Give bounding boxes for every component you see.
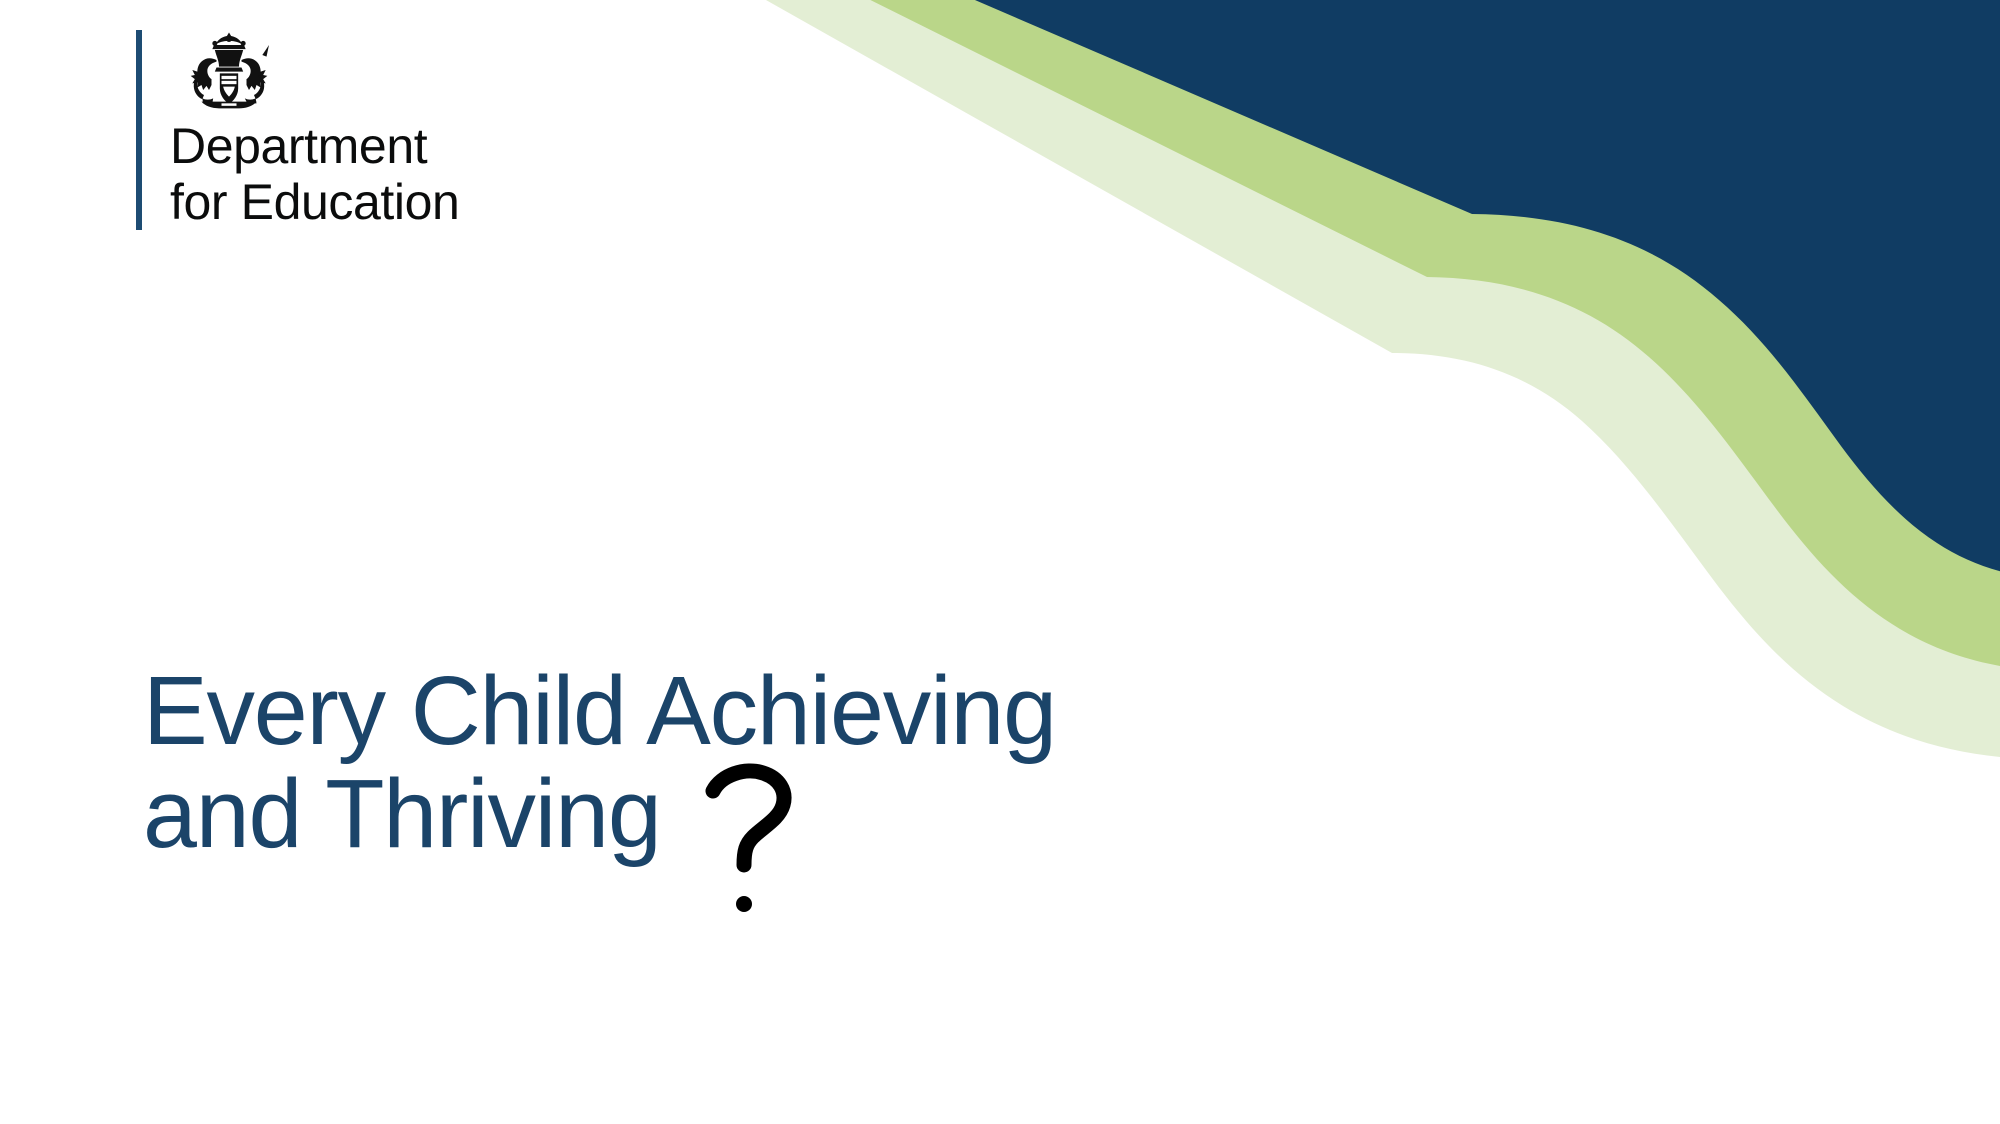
royal-coat-of-arms-icon	[170, 30, 288, 110]
logo-wordmark: Department for Education	[170, 118, 459, 230]
title-line-2: and Thriving	[143, 763, 661, 866]
title-line-1: Every Child Achieving	[143, 660, 1293, 763]
title-line-2-row: and Thriving	[143, 763, 1293, 923]
logo-line-1: Department	[170, 118, 459, 174]
hand-drawn-question-mark-icon	[701, 755, 813, 923]
inner-navy-band	[882, 0, 2000, 580]
logo-vertical-rule	[136, 30, 142, 230]
logo-body: Department for Education	[170, 30, 459, 230]
slide-canvas: Department for Education Every Child Ach…	[0, 0, 2000, 1124]
middle-green-band	[790, 0, 2000, 672]
slide-title-block: Every Child Achieving and Thriving	[143, 660, 1293, 923]
logo-line-2: for Education	[170, 174, 459, 230]
dfe-logo: Department for Education	[136, 30, 459, 230]
outer-light-green-band	[695, 0, 2000, 760]
